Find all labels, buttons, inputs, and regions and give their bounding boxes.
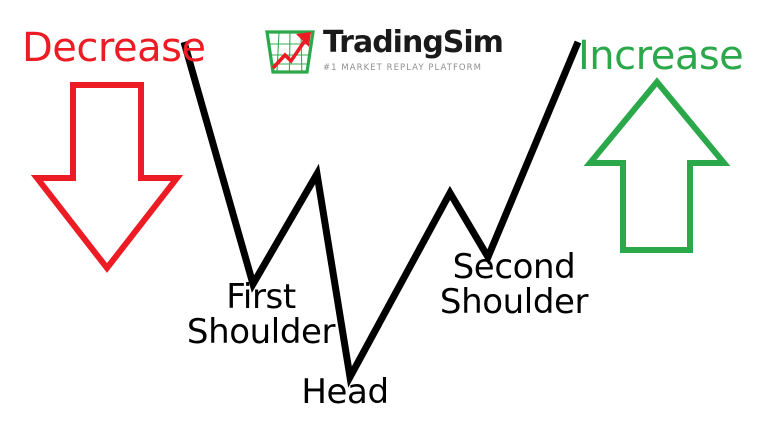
tradingsim-logo: TradingSim #1 MARKET REPLAY PLATFORM [263,26,495,84]
second-shoulder-label: Second Shoulder [424,250,604,319]
brand-tagline: #1 MARKET REPLAY PLATFORM [323,63,482,73]
increase-annotation-label: Increase [578,36,743,77]
brand-text-block: TradingSim #1 MARKET REPLAY PLATFORM [323,26,503,73]
chart-grid-up-arrow-icon [263,28,317,78]
arrow-up-outline-icon [590,82,724,250]
head-label: Head [285,375,405,410]
first-shoulder-label: First Shoulder [176,280,346,349]
diagram-canvas: Decrease Increase First Shoulder Head Se… [0,0,768,427]
arrow-down-outline-icon [37,85,177,268]
decrease-annotation-label: Decrease [22,28,206,69]
brand-name: TradingSim [323,28,503,58]
